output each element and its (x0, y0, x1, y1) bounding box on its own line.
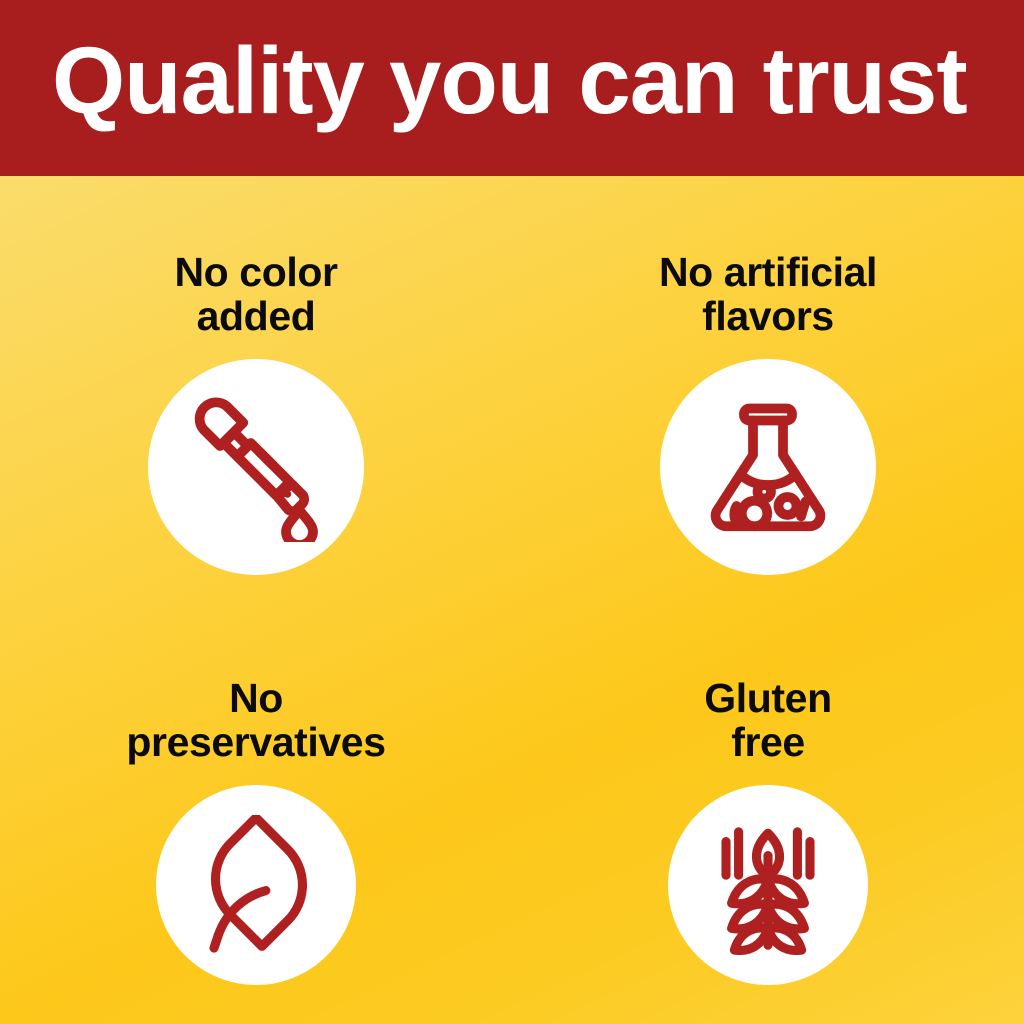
quality-claims-poster: Quality you can trust No color added (0, 0, 1024, 1024)
icon-badge (156, 785, 356, 985)
feature-label-line1: No (229, 675, 283, 721)
feature-label: Gluten free (704, 676, 831, 765)
feature-grid: No color added (0, 176, 1024, 1024)
feature-no-artificial-flavors: No artificial flavors (512, 176, 1024, 600)
feature-label-line1: Gluten (704, 675, 831, 721)
feature-label-line2: free (731, 719, 805, 765)
dropper-icon (181, 392, 331, 542)
flask-icon (693, 392, 843, 542)
feature-gluten-free: Gluten free (512, 600, 1024, 1024)
icon-badge (668, 785, 868, 985)
wheat-icon (698, 815, 838, 955)
feature-label-line1: No color (174, 249, 337, 295)
feature-no-preservatives: No preservatives (0, 600, 512, 1024)
feature-label: No artificial flavors (659, 250, 877, 339)
leaf-icon (186, 815, 326, 955)
feature-no-color-added: No color added (0, 176, 512, 600)
header-banner: Quality you can trust (0, 0, 1024, 176)
feature-label-line2: added (197, 293, 316, 339)
feature-label-line2: preservatives (126, 719, 385, 765)
feature-label-line2: flavors (702, 293, 834, 339)
feature-label: No color added (174, 250, 337, 339)
page-title: Quality you can trust (52, 34, 967, 129)
feature-label-line1: No artificial (659, 249, 877, 295)
icon-badge (148, 359, 364, 575)
icon-badge (660, 359, 876, 575)
feature-label: No preservatives (126, 676, 385, 765)
